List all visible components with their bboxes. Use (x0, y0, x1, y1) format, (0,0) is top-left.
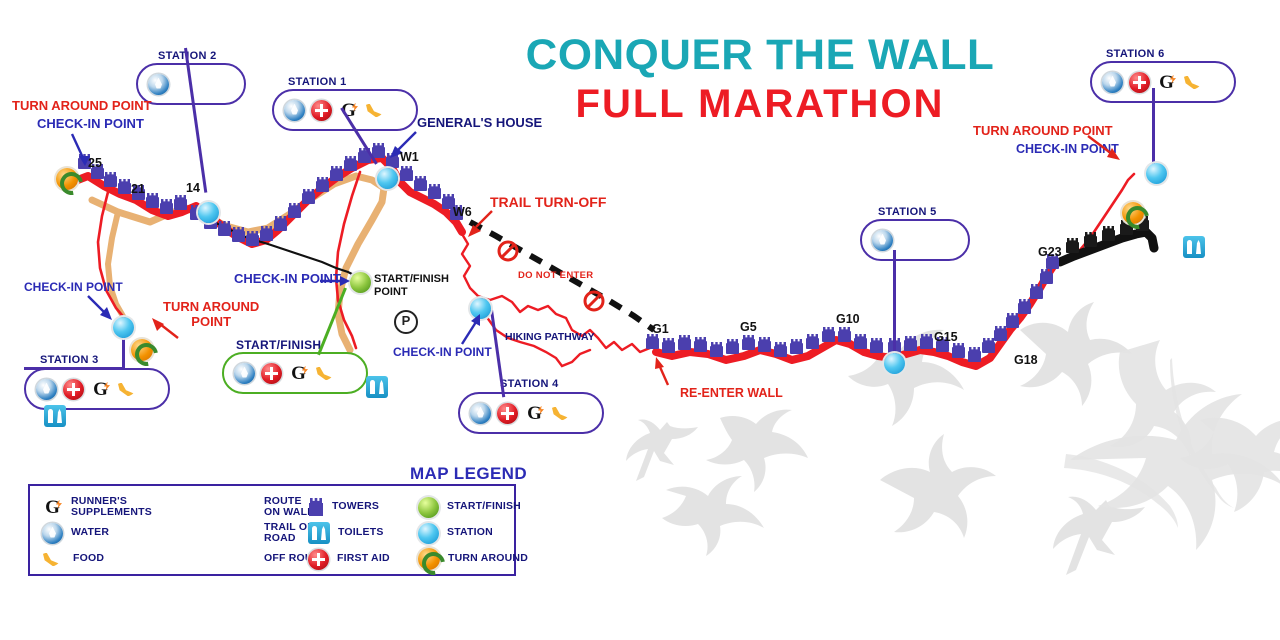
re-enter-wall-label: RE-ENTER WALL (680, 386, 783, 400)
legend-item-toilets: TOILETS (308, 521, 418, 545)
first-aid-icon (308, 549, 329, 570)
tower-icon (952, 343, 965, 358)
arrow-to-re-enter-wall (652, 355, 680, 387)
tower-icon (414, 176, 427, 191)
tower-icon (1102, 226, 1115, 241)
tower-marker-label: W6 (453, 205, 472, 219)
tower-icon (1030, 284, 1043, 299)
hiking-pathway-label: HIKING PATHWAY (505, 332, 595, 344)
station-3-pill[interactable]: G (24, 368, 170, 410)
do-not-enter-sign-2 (583, 290, 605, 312)
tower-marker-label: G15 (934, 330, 958, 344)
legend-item-turn-around: TURN AROUND (418, 547, 538, 571)
tower-icon (662, 338, 675, 353)
food-icon (42, 549, 65, 570)
map-legend: G RUNNER'S SUPPLEMENTS WATER FOOD ROUTE … (28, 484, 516, 576)
tower-marker-label: 14 (186, 181, 200, 195)
legend-item-first-aid: FIRST AID (308, 547, 418, 571)
turn-around-marker-mid[interactable] (131, 339, 153, 361)
tower-icon (316, 177, 329, 192)
tower-icon (428, 184, 441, 199)
tower-icon (1084, 232, 1097, 247)
tower-icon (968, 347, 981, 362)
start-finish-pill[interactable]: G (222, 352, 368, 394)
tower-marker-label: 21 (131, 182, 145, 196)
legend-label: FOOD (73, 553, 104, 564)
tower-icon (146, 193, 159, 208)
legend-column-4: START/FINISH STATION TURN AROUND (418, 495, 538, 573)
station-icon (418, 523, 439, 544)
legend-item-food: FOOD (42, 547, 162, 571)
legend-label: RUNNER'S SUPPLEMENTS (71, 496, 152, 518)
arrow-to-start-finish (320, 274, 352, 288)
legend-label: TURN AROUND (448, 553, 528, 564)
tower-icon (260, 226, 273, 241)
station-6-pill[interactable]: G (1090, 61, 1236, 103)
water-icon (284, 100, 305, 121)
tower-icon (104, 172, 117, 187)
tower-marker-label: W1 (400, 150, 419, 164)
tower-icon (694, 337, 707, 352)
runners-supplements-icon: G (288, 363, 309, 384)
station-marker-right[interactable] (1146, 163, 1167, 184)
tower-icon (710, 342, 723, 357)
map-title: CONQUER THE WALL FULL MARATHON (500, 34, 1020, 128)
legend-label: ROUTE ON WALL (264, 496, 314, 518)
parking-icon: P (394, 310, 418, 334)
runners-supplements-icon: G (1156, 72, 1177, 93)
legend-column-3: TOWERS TOILETS FIRST AID (308, 495, 418, 573)
tower-icon (344, 156, 357, 171)
tower-icon (678, 335, 691, 350)
tower-icon (870, 338, 883, 353)
legend-title: MAP LEGEND (410, 464, 527, 484)
tower-icon (646, 334, 659, 349)
tower-icon (822, 327, 835, 342)
turn-around-marker-left[interactable] (56, 168, 78, 190)
tower-icon (288, 203, 301, 218)
check-in-point-midleft-label: CHECK-IN POINT (24, 281, 123, 294)
tower-icon (274, 216, 287, 231)
station-4-label: STATION 4 (500, 378, 559, 390)
legend-label: TOILETS (338, 527, 384, 538)
water-icon (42, 523, 63, 544)
tower-icon (1040, 269, 1053, 284)
tower-icon (1066, 238, 1079, 253)
station-marker-14[interactable] (198, 202, 219, 223)
tower-icon (118, 179, 131, 194)
start-finish-icon (418, 497, 439, 518)
tower-icon (920, 334, 933, 349)
legend-item-start-finish: START/FINISH (418, 495, 538, 519)
start-finish-marker[interactable] (350, 272, 371, 293)
generals-house-label: GENERAL'S HOUSE (417, 116, 542, 131)
tower-marker-label: G10 (836, 312, 860, 326)
station-5-label: STATION 5 (878, 206, 937, 218)
station-3-label: STATION 3 (40, 354, 99, 366)
toilets-icon-left (44, 405, 66, 427)
tower-icon (308, 497, 324, 517)
legend-item-water: WATER (42, 521, 162, 545)
station-6-label: STATION 6 (1106, 48, 1165, 60)
tower-marker-label: G23 (1038, 245, 1062, 259)
water-icon (36, 379, 57, 400)
turn-around-icon (418, 548, 440, 570)
food-icon (315, 363, 338, 384)
title-main: CONQUER THE WALL (495, 34, 1025, 77)
water-icon (1102, 72, 1123, 93)
first-aid-icon (261, 363, 282, 384)
runners-supplements-icon: G (524, 403, 545, 424)
station-marker-g12[interactable] (884, 353, 905, 374)
turn-around-point-left-label: TURN AROUND POINT (12, 99, 152, 114)
legend-label: WATER (71, 527, 109, 538)
food-icon (365, 100, 388, 121)
tower-icon (742, 335, 755, 350)
toilets-icon (366, 376, 388, 398)
runners-supplements-icon: G (90, 379, 111, 400)
check-in-point-hiking-label: CHECK-IN POINT (393, 346, 492, 359)
check-in-point-left-label: CHECK-IN POINT (37, 117, 144, 132)
station-marker-w1[interactable] (377, 168, 398, 189)
trail-turn-off-label: TRAIL TURN-OFF (490, 195, 606, 211)
tower-marker-label: G5 (740, 320, 757, 334)
arrow-to-turn-around-right (1086, 134, 1126, 166)
tower-icon (232, 227, 245, 242)
runners-supplements-icon: G (42, 497, 63, 518)
tower-icon (854, 334, 867, 349)
food-icon (1183, 72, 1206, 93)
do-not-enter-label: DO NOT ENTER (518, 271, 593, 282)
water-icon (148, 74, 169, 95)
arrow-to-check-in-hiking (458, 312, 486, 346)
first-aid-icon (63, 379, 84, 400)
station-4-pill[interactable]: G (458, 392, 604, 434)
tower-icon (790, 339, 803, 354)
legend-item-runners-supplements: G RUNNER'S SUPPLEMENTS (42, 495, 162, 519)
start-finish-station-label: START/FINISH (236, 338, 321, 352)
tower-icon (302, 189, 315, 204)
legend-label: TOWERS (332, 501, 379, 512)
tower-icon (904, 336, 917, 351)
food-icon (551, 403, 574, 424)
start-finish-point-label: START/FINISH POINT (374, 273, 449, 298)
tower-icon (1018, 299, 1031, 314)
station-3-leader-h (24, 367, 124, 370)
tower-icon (174, 195, 187, 210)
tower-icon (806, 334, 819, 349)
first-aid-icon (311, 100, 332, 121)
first-aid-icon (1129, 72, 1150, 93)
station-6-leader (1152, 88, 1155, 168)
toilets-icon (308, 522, 330, 544)
do-not-enter-sign-1 (497, 240, 519, 262)
tower-icon (160, 199, 173, 214)
tower-marker-label: G18 (1014, 353, 1038, 367)
legend-item-station: STATION (418, 521, 538, 545)
legend-label: START/FINISH (447, 501, 521, 512)
legend-column-1: G RUNNER'S SUPPLEMENTS WATER FOOD (42, 495, 162, 573)
title-sub: FULL MARATHON (500, 81, 1020, 128)
tower-icon (1006, 313, 1019, 328)
race-course-map: CONQUER THE WALL FULL MARATHON STATION 2… (0, 0, 1280, 640)
water-icon (470, 403, 491, 424)
tower-icon (774, 342, 787, 357)
tower-icon (758, 337, 771, 352)
water-icon (234, 363, 255, 384)
legend-label: STATION (447, 527, 493, 538)
tower-icon (994, 326, 1007, 341)
station-5-leader (893, 250, 896, 355)
tower-icon (400, 166, 413, 181)
tower-icon (330, 166, 343, 181)
food-icon (117, 379, 140, 400)
legend-label: FIRST AID (337, 553, 390, 564)
tower-icon (726, 339, 739, 354)
water-icon (872, 230, 893, 251)
tower-icon (218, 221, 231, 236)
tower-icon (246, 231, 259, 246)
tower-marker-label: G1 (652, 322, 669, 336)
turn-around-marker-right[interactable] (1122, 202, 1144, 224)
station-1-label: STATION 1 (288, 76, 347, 88)
toilets-icon-right (1183, 236, 1205, 258)
station-5-pill[interactable] (860, 219, 970, 261)
arrow-to-check-in-midleft (86, 294, 118, 324)
first-aid-icon (497, 403, 518, 424)
legend-item-towers: TOWERS (308, 495, 418, 519)
arrow-to-turn-around-mid (148, 316, 180, 342)
tower-marker-label: 25 (88, 156, 102, 170)
tower-icon (838, 327, 851, 342)
